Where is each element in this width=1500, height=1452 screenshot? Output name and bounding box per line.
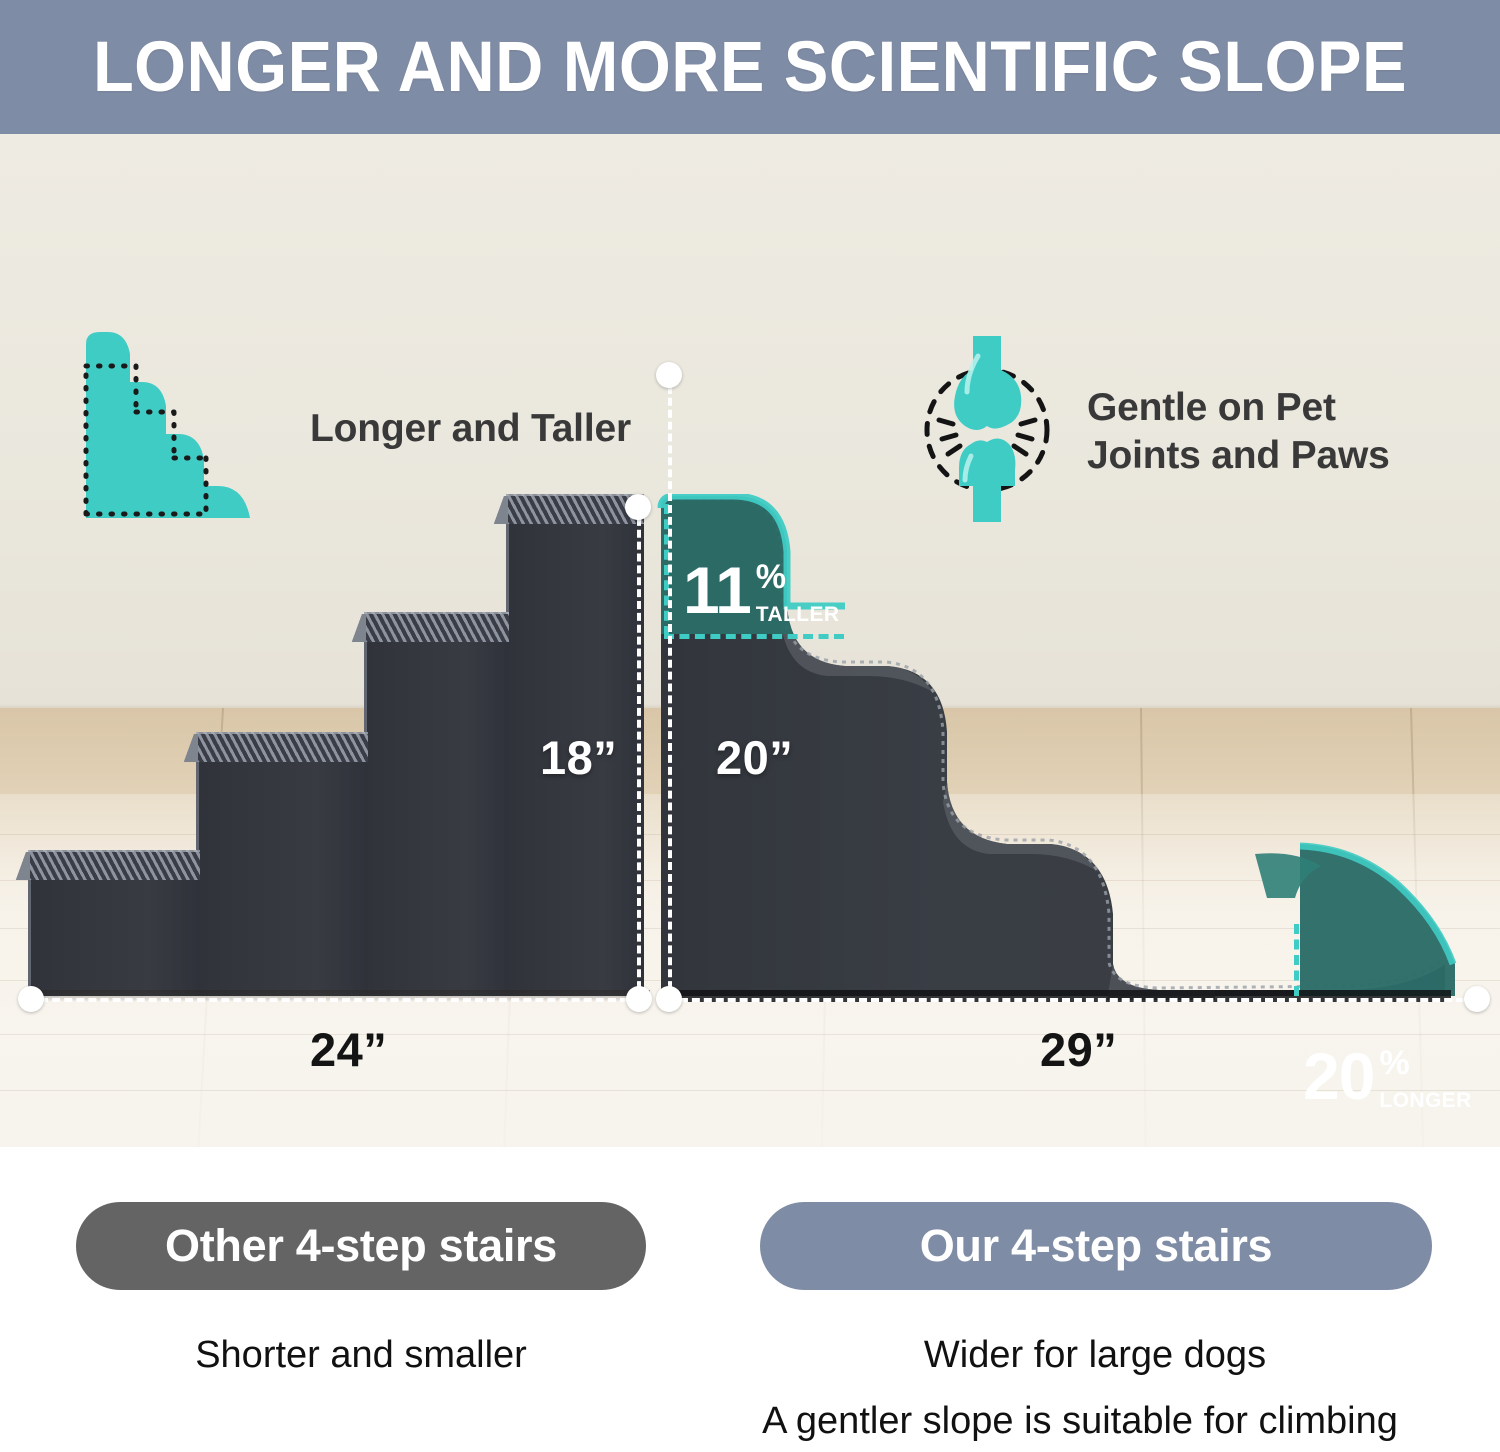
width-label-24: 24”	[310, 1022, 387, 1077]
longer-callout-word: LONGER	[1379, 1089, 1471, 1113]
longer-region-left-edge	[1294, 924, 1299, 996]
width-line-24	[28, 998, 640, 1002]
width-label-29: 29”	[1040, 1022, 1117, 1077]
caption-our-stairs-2: A gentler slope is suitable for climbing	[660, 1400, 1500, 1443]
longer-callout-symbol: %	[1379, 1046, 1409, 1080]
width-line-29-left-dot	[656, 986, 682, 1012]
longer-callout-number: 20	[1303, 1046, 1374, 1107]
height-line-20-top-dot	[656, 362, 682, 388]
pill-other-stairs[interactable]: Other 4-step stairs	[76, 1202, 646, 1290]
height-label-20: 20”	[716, 730, 793, 785]
header-banner: LONGER AND MORE SCIENTIFIC SLOPE	[0, 0, 1500, 134]
taller-callout: 11 % TALLER	[683, 560, 839, 627]
height-line-20	[668, 374, 672, 1001]
width-line-29	[668, 998, 1476, 1002]
pill-our-stairs[interactable]: Our 4-step stairs	[760, 1202, 1432, 1290]
width-line-29-right-dot	[1464, 986, 1490, 1012]
height-line-18	[637, 506, 641, 1001]
feature-gentle-joints-label: Gentle on Pet Joints and Paws	[1087, 384, 1390, 479]
taller-region-bottom-edge	[664, 634, 844, 639]
product-comparison-photo: Longer and Taller	[0, 134, 1500, 1147]
width-line-24-right-dot	[626, 986, 652, 1012]
height-line-18-top-dot	[625, 494, 651, 520]
taller-callout-number: 11	[683, 560, 751, 621]
width-line-24-left-dot	[18, 986, 44, 1012]
comparison-summary: Other 4-step stairs Our 4-step stairs Sh…	[0, 1147, 1500, 1452]
taller-callout-symbol: %	[756, 560, 786, 594]
longer-callout: 20 % LONGER	[1303, 1046, 1472, 1113]
taller-callout-word: TALLER	[756, 603, 840, 627]
feature-longer-taller-label: Longer and Taller	[310, 405, 631, 453]
caption-other-stairs: Shorter and smaller	[76, 1334, 646, 1377]
gentle-joints-line-1: Gentle on Pet	[1087, 386, 1336, 429]
caption-our-stairs-1: Wider for large dogs	[700, 1334, 1490, 1377]
page-title: LONGER AND MORE SCIENTIFIC SLOPE	[93, 27, 1407, 108]
gentle-joints-line-2: Joints and Paws	[1087, 434, 1390, 477]
height-label-18: 18”	[540, 730, 617, 785]
